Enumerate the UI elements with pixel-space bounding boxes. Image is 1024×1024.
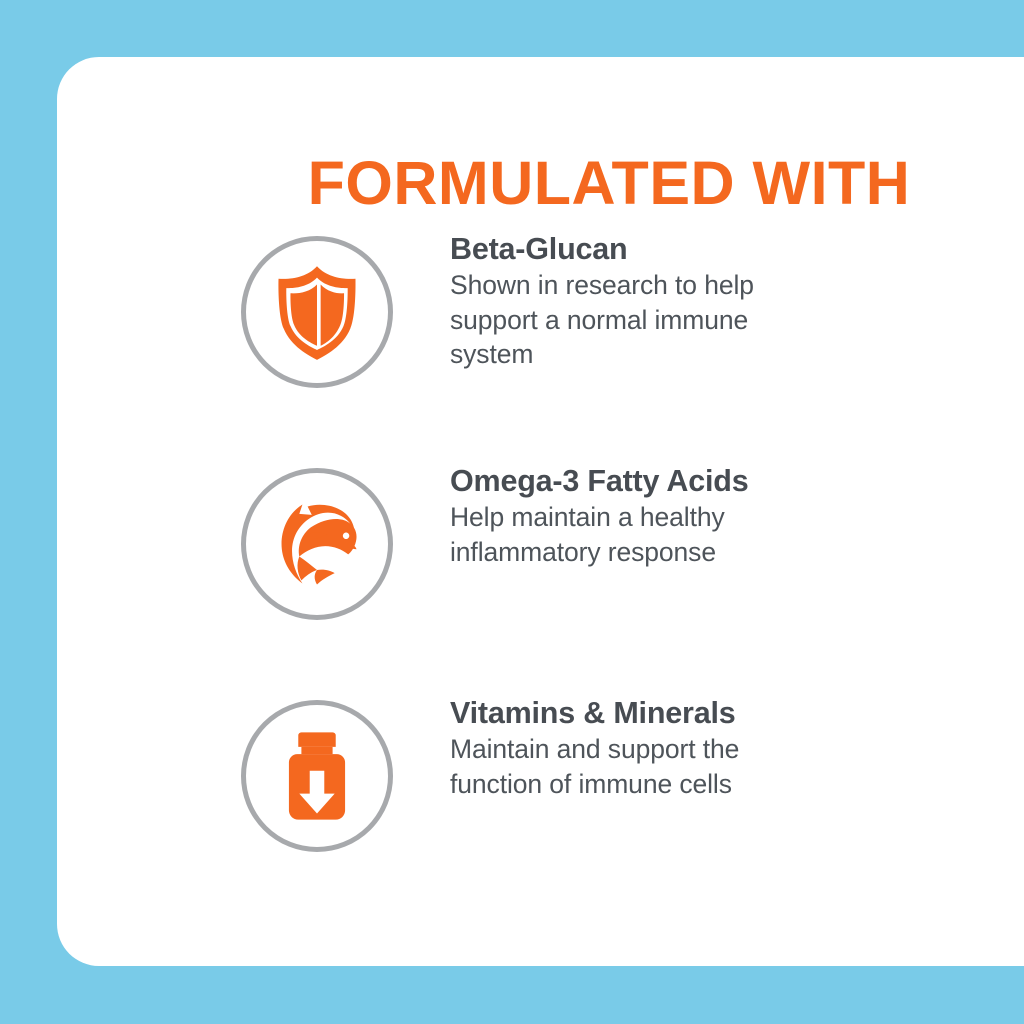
feature-icon-wrap xyxy=(241,700,393,852)
fish-icon xyxy=(241,468,393,620)
feature-title: Vitamins & Minerals xyxy=(450,696,1024,730)
feature-description: Maintain and support the function of imm… xyxy=(450,732,830,801)
feature-text: Omega-3 Fatty Acids Help maintain a heal… xyxy=(450,464,1024,569)
feature-description: Shown in research to help support a norm… xyxy=(450,268,810,371)
feature-text: Vitamins & Minerals Maintain and support… xyxy=(450,696,1024,801)
supplement-bottle-icon xyxy=(241,700,393,852)
feature-title: Omega-3 Fatty Acids xyxy=(450,464,1024,498)
feature-list: Beta-Glucan Shown in research to help su… xyxy=(57,232,1024,928)
page-title: FORMULATED WITH xyxy=(229,153,989,214)
feature-description: Help maintain a healthy inflammatory res… xyxy=(450,500,830,569)
feature-item-beta-glucan: Beta-Glucan Shown in research to help su… xyxy=(57,232,1024,464)
feature-icon-wrap xyxy=(241,468,393,620)
feature-item-omega-3: Omega-3 Fatty Acids Help maintain a heal… xyxy=(57,464,1024,696)
feature-text: Beta-Glucan Shown in research to help su… xyxy=(450,232,1024,371)
feature-item-vitamins-minerals: Vitamins & Minerals Maintain and support… xyxy=(57,696,1024,928)
content-card: FORMULATED WITH Beta-Gl xyxy=(57,57,1024,966)
infographic-stage: FORMULATED WITH Beta-Gl xyxy=(0,0,1024,1024)
feature-icon-wrap xyxy=(241,236,393,388)
shield-icon xyxy=(241,236,393,388)
feature-title: Beta-Glucan xyxy=(450,232,1024,266)
